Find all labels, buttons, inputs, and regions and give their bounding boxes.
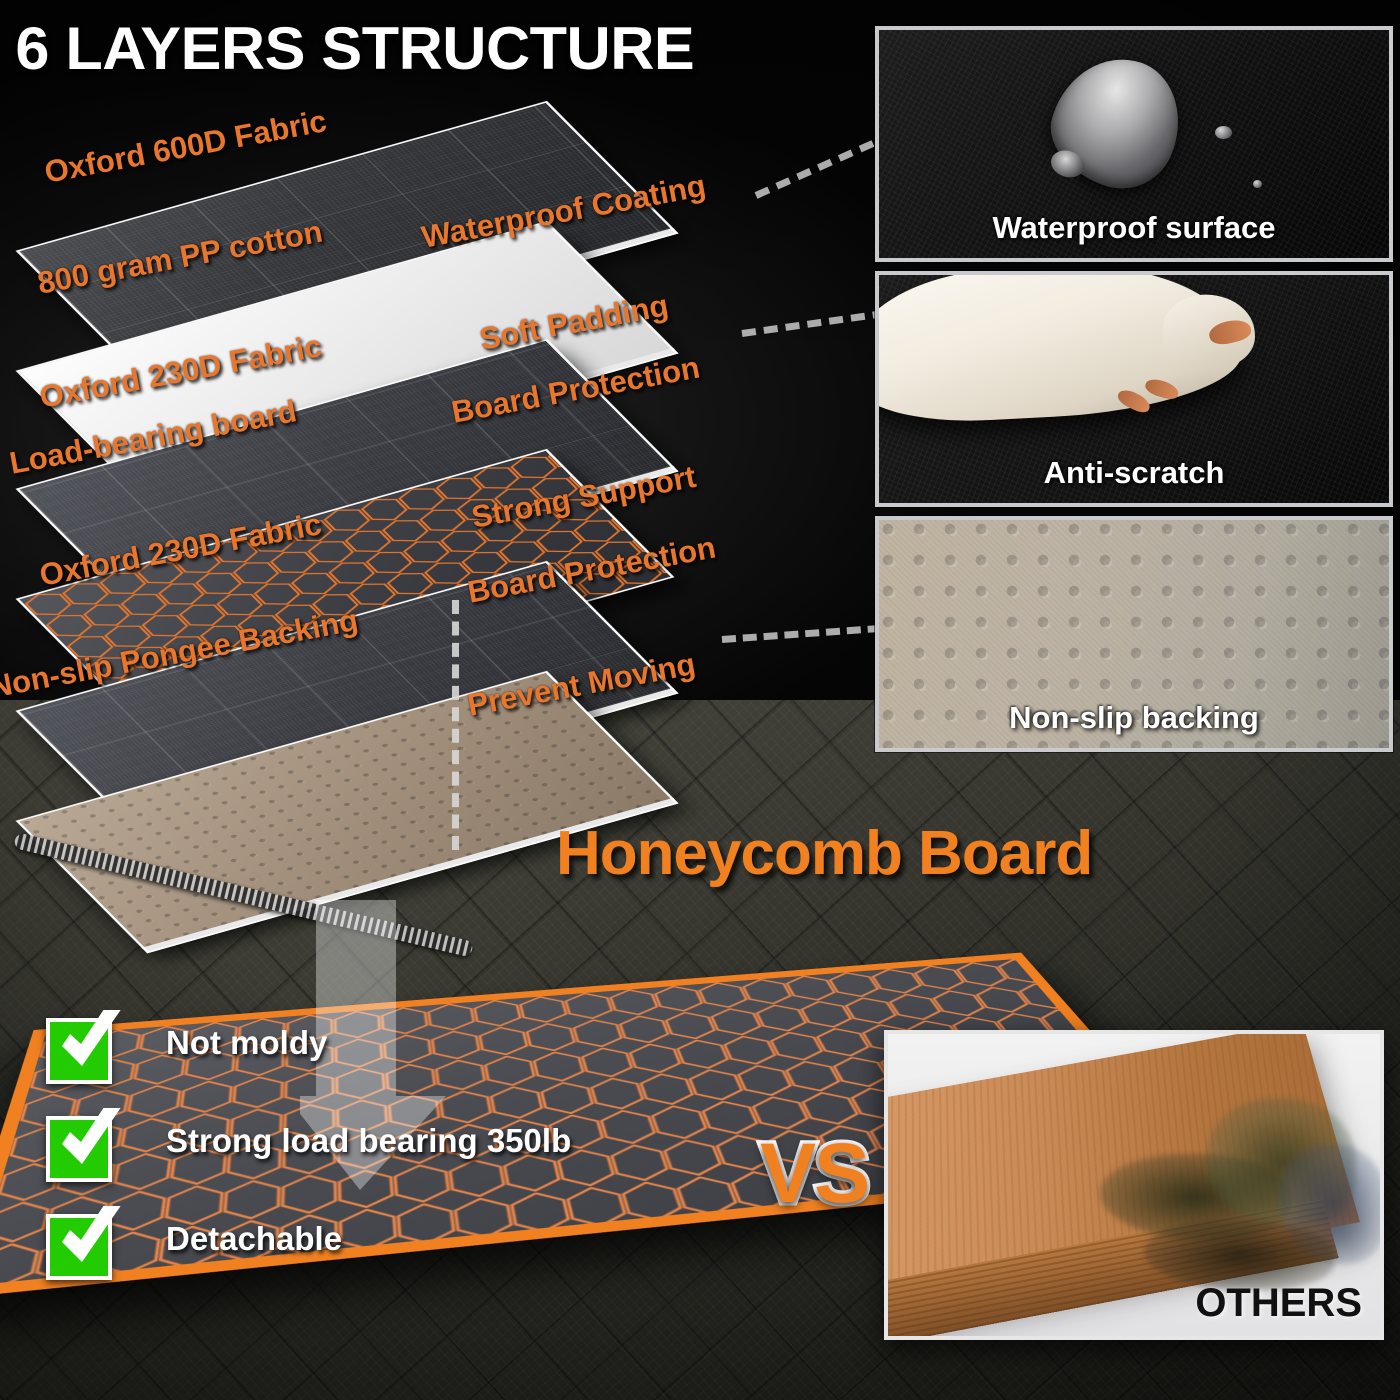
benefit-label: Strong load bearing 350lb bbox=[166, 1122, 571, 1160]
check-mark-icon bbox=[46, 1214, 112, 1280]
panel-caption: Anti-scratch bbox=[879, 455, 1389, 491]
page-title: 6 LAYERS STRUCTURE bbox=[15, 14, 694, 83]
check-mark-icon bbox=[46, 1018, 112, 1084]
photo-panel-waterproof: Waterproof surface bbox=[875, 26, 1393, 262]
water-droplet-icon-small bbox=[1253, 180, 1262, 188]
others-comparison-panel: OTHERS bbox=[884, 1030, 1384, 1340]
panel-caption: Non-slip backing bbox=[879, 700, 1389, 736]
photo-panel-nonslip: Non-slip backing bbox=[875, 516, 1393, 752]
photo-panel-antiscratch: Anti-scratch bbox=[875, 271, 1393, 507]
board-title: Honeycomb Board bbox=[556, 818, 1092, 889]
infographic-canvas: 6 LAYERS STRUCTURE Oxford 600D FabricWat… bbox=[0, 0, 1400, 1400]
layer-stack-diagram: Oxford 600D FabricWaterproof Coating800 … bbox=[0, 70, 820, 800]
vs-label: VS bbox=[760, 1125, 868, 1222]
panel-caption: Waterproof surface bbox=[879, 210, 1389, 246]
connector-line-board bbox=[452, 600, 459, 850]
others-label: OTHERS bbox=[1195, 1281, 1362, 1326]
water-droplet-icon-small bbox=[1215, 126, 1232, 139]
benefit-label: Detachable bbox=[166, 1220, 342, 1258]
check-mark-icon bbox=[46, 1116, 112, 1182]
benefit-label: Not moldy bbox=[166, 1024, 327, 1062]
